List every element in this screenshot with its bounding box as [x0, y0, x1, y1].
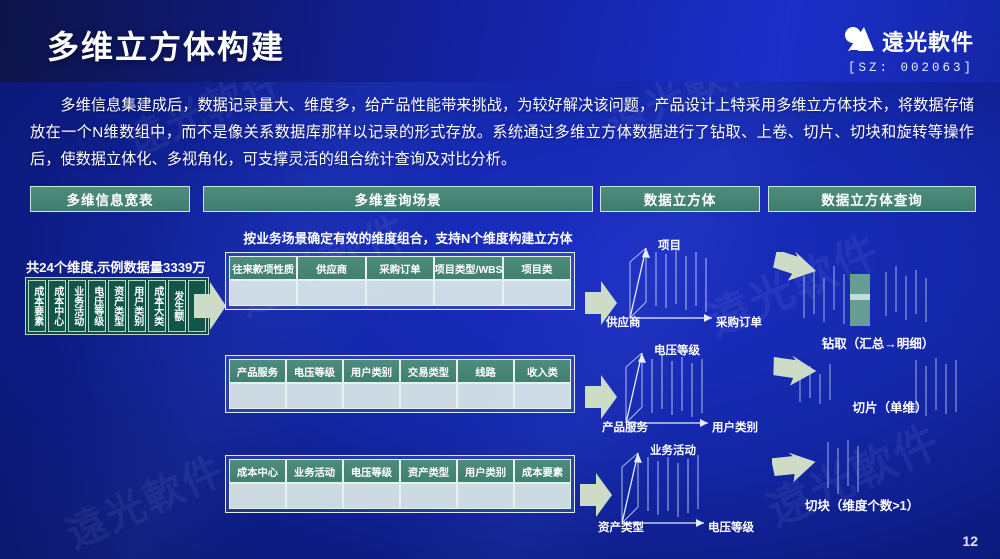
cube-axis-label-top: 电压等级 — [654, 342, 700, 358]
table-cell — [229, 383, 286, 409]
table-header-cell: 收入类 — [514, 359, 571, 383]
section-header-query-scenario: 多维查询场景 — [203, 186, 593, 212]
table-cell — [297, 280, 365, 306]
table-header-cell: 线路 — [457, 359, 514, 383]
cube-axis-label-left: 产品服务 — [602, 419, 648, 435]
brand-name: 遠光軟件 — [882, 25, 974, 57]
table-header-cell: 资产类型 — [400, 459, 457, 483]
cube-axis-label-top: 业务活动 — [650, 442, 696, 458]
table-header-cell: 往来款项性质 — [229, 256, 297, 280]
dimension-cell: 用户类别 — [128, 280, 146, 332]
table-cell — [229, 280, 297, 306]
table-header-cell: 电压等级 — [343, 459, 400, 483]
dimension-cell: 成本要素 — [28, 280, 46, 332]
dimension-cell: 成本中心 — [48, 280, 66, 332]
flow-arrow-icon — [194, 278, 226, 334]
table-cell — [286, 383, 343, 409]
section-header-data-cube: 数据立方体 — [600, 186, 760, 212]
table-row — [229, 383, 571, 409]
data-cube-diagram: 业务活动 资产类型 电压等级 — [604, 445, 754, 541]
dimension-cell: 发生额 — [168, 280, 186, 332]
table-cell — [343, 383, 400, 409]
page-number: 12 — [962, 533, 978, 549]
table-header-cell: 产品服务 — [229, 359, 286, 383]
table-row — [229, 483, 571, 509]
operation-label: 切块（维度个数>1） — [762, 495, 962, 514]
operation-drill-down: 钻取（汇总→明细） — [778, 252, 978, 348]
scenario-table: 往来款项性质 供应商 采购订单 项目类型/WBS 项目类 — [225, 252, 575, 310]
data-cube-diagram: 电压等级 产品服务 用户类别 — [608, 345, 758, 441]
table-header-cell: 采购订单 — [366, 256, 434, 280]
watermark: 遠光軟件 — [55, 438, 232, 559]
brand-block: 遠光軟件 [SZ: 002063] — [841, 25, 974, 75]
table-cell — [286, 483, 343, 509]
cube-axis-label-right: 采购订单 — [716, 314, 762, 330]
table-header-cell: 电压等级 — [286, 359, 343, 383]
brand-stock-code: [SZ: 002063] — [841, 61, 974, 75]
table-row — [229, 280, 571, 306]
table-cell — [434, 280, 502, 306]
dimension-cell: 成本大类 — [148, 280, 166, 332]
operation-label: 切片（单维） — [790, 397, 990, 416]
scenario-table: 产品服务 电压等级 用户类别 交易类型 线路 收入类 — [225, 355, 575, 413]
table-cell — [503, 280, 571, 306]
table-header-cell: 项目类 — [503, 256, 571, 280]
slide-root: 遠光軟件 遠光軟件 遠光軟件 遠光軟件 遠光軟件 遠光軟件 多维立方体构建 遠光… — [0, 0, 1000, 559]
table-cell — [400, 383, 457, 409]
table-cell — [400, 483, 457, 509]
cube-axis-label-right: 用户类别 — [712, 419, 758, 435]
table-header-cell: 用户类别 — [343, 359, 400, 383]
dimension-cell: 业务活动 — [68, 280, 86, 332]
section-header-wide-table: 多维信息宽表 — [30, 186, 190, 212]
page-title: 多维立方体构建 — [47, 22, 285, 68]
cube-axis-label-right: 电压等级 — [708, 519, 754, 535]
table-cell — [514, 383, 571, 409]
table-header-cell: 成本中心 — [229, 459, 286, 483]
table-cell — [366, 280, 434, 306]
table-header-cell: 用户类别 — [457, 459, 514, 483]
operation-slice: 切片（单维） — [790, 350, 990, 446]
dimension-strip: 成本要素 成本中心 业务活动 电压等级 资产类型 用户类别 成本大类 发生额 ·… — [25, 277, 209, 335]
table-header-row: 成本中心 业务活动 电压等级 资产类型 用户类别 成本要素 — [229, 459, 571, 483]
section-header-cube-query: 数据立方体查询 — [768, 186, 976, 212]
intro-paragraph: 多维信息集建成后，数据记录量大、维度多，给产品性能带来挑战，为较好解决该问题，产… — [30, 92, 974, 173]
table-header-cell: 成本要素 — [514, 459, 571, 483]
dimension-count-caption: 共24个维度,示例数据量3339万 — [26, 257, 206, 276]
table-cell — [229, 483, 286, 509]
dimension-cell: 资产类型 — [108, 280, 126, 332]
cube-axis-label-top: 项目 — [658, 237, 681, 253]
cube-axis-label-left: 资产类型 — [598, 519, 644, 535]
table-cell — [343, 483, 400, 509]
table-cell — [457, 483, 514, 509]
table-header-cell: 供应商 — [297, 256, 365, 280]
table-header-row: 产品服务 电压等级 用户类别 交易类型 线路 收入类 — [229, 359, 571, 383]
table-header-cell: 交易类型 — [400, 359, 457, 383]
dimension-cell: 电压等级 — [88, 280, 106, 332]
scenario-caption: 按业务场景确定有效的维度组合，支持N个维度构建立方体 — [228, 228, 588, 247]
table-cell — [457, 383, 514, 409]
scenario-table: 成本中心 业务活动 电压等级 资产类型 用户类别 成本要素 — [225, 455, 575, 513]
cube-axis-label-left: 供应商 — [606, 314, 641, 330]
operation-dice: 切块（维度个数>1） — [800, 440, 1000, 536]
data-cube-diagram: 项目 供应商 采购订单 — [612, 240, 762, 336]
table-header-cell: 项目类型/WBS — [434, 256, 502, 280]
table-header-row: 往来款项性质 供应商 采购订单 项目类型/WBS 项目类 — [229, 256, 571, 280]
table-cell — [514, 483, 571, 509]
yuanguang-triangle-logo-icon — [841, 26, 875, 57]
table-header-cell: 业务活动 — [286, 459, 343, 483]
